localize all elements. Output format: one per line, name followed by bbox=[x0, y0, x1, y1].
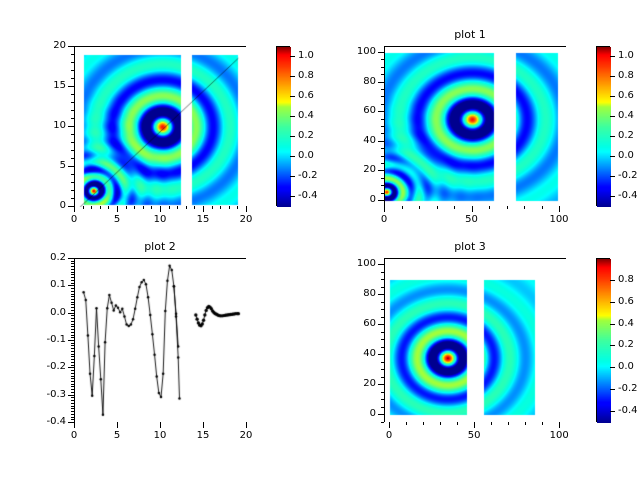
y-minor-tick bbox=[71, 370, 74, 371]
colorbar-tick-label: 0.8 bbox=[298, 70, 314, 81]
colorbar-tick bbox=[290, 56, 295, 57]
y-tick bbox=[68, 126, 74, 127]
y-minor-tick bbox=[71, 324, 74, 325]
y-tick-label: 15 bbox=[26, 80, 66, 91]
y-tick-label: 60 bbox=[336, 105, 376, 116]
colorbar-tick-label: 0.4 bbox=[618, 318, 634, 329]
y-tick bbox=[378, 52, 384, 53]
y-minor-tick bbox=[71, 118, 74, 119]
y-tick bbox=[68, 206, 74, 207]
y-minor-tick bbox=[381, 148, 384, 149]
colorbar-tick bbox=[610, 156, 615, 157]
x-tick bbox=[384, 206, 385, 212]
y-minor-tick bbox=[71, 283, 74, 284]
y-minor-tick bbox=[71, 299, 74, 300]
y-minor-tick bbox=[71, 294, 74, 295]
x-minor-tick bbox=[489, 206, 490, 209]
colorbar-tick bbox=[610, 367, 615, 368]
colorbar-tick-label: 0.6 bbox=[618, 90, 634, 101]
y-tick bbox=[378, 414, 384, 415]
y-minor-tick bbox=[71, 263, 74, 264]
y-tick-label: 0.0 bbox=[26, 307, 66, 318]
x-minor-tick bbox=[151, 206, 152, 209]
y-minor-tick bbox=[381, 119, 384, 120]
plot3-heatmap-canvas bbox=[385, 259, 567, 423]
y-tick-label: 40 bbox=[336, 348, 376, 359]
y-tick-label: -0.2 bbox=[26, 361, 66, 372]
x-tick bbox=[160, 422, 161, 428]
colorbar-tick bbox=[610, 280, 615, 281]
y-tick-label: 20 bbox=[336, 164, 376, 175]
plot2-title: plot 2 bbox=[70, 240, 250, 253]
x-minor-tick bbox=[491, 422, 492, 425]
colorbar-tick bbox=[610, 302, 615, 303]
y-minor-tick bbox=[71, 277, 74, 278]
x-minor-tick bbox=[237, 206, 238, 209]
colorbar-tick-label: -0.4 bbox=[618, 405, 638, 416]
y-minor-tick bbox=[71, 408, 74, 409]
x-tick-label: 5 bbox=[99, 214, 135, 225]
y-tick bbox=[68, 166, 74, 167]
plot2-axes[interactable] bbox=[74, 258, 246, 422]
colorbar-tick-label: -0.2 bbox=[618, 170, 638, 181]
y-tick bbox=[68, 86, 74, 87]
y-minor-tick bbox=[71, 351, 74, 352]
colorbar-tick-label: 1.0 bbox=[298, 50, 314, 61]
x-minor-tick bbox=[406, 422, 407, 425]
colorbar-tick bbox=[290, 196, 295, 197]
y-tick bbox=[378, 82, 384, 83]
x-tick-label: 100 bbox=[541, 430, 577, 441]
panel-plot2: plot 2 051015200.20.10.0-0.1-0.2-0.3-0.4 bbox=[0, 240, 320, 480]
y-minor-tick bbox=[71, 182, 74, 183]
x-minor-tick bbox=[440, 422, 441, 425]
x-tick-label: 50 bbox=[454, 214, 490, 225]
y-minor-tick bbox=[381, 96, 384, 97]
x-minor-tick bbox=[524, 206, 525, 209]
y-minor-tick bbox=[71, 419, 74, 420]
colorbar-tick bbox=[610, 324, 615, 325]
plot1-colorbar-canvas bbox=[597, 47, 611, 207]
plot3-colorbar bbox=[596, 258, 610, 422]
plot0-colorbar-canvas bbox=[277, 47, 291, 207]
y-tick-label: 0 bbox=[26, 200, 66, 211]
x-minor-tick bbox=[507, 206, 508, 209]
y-minor-tick bbox=[381, 422, 384, 423]
y-minor-tick bbox=[71, 291, 74, 292]
colorbar-tick-label: 0.0 bbox=[298, 150, 314, 161]
y-minor-tick bbox=[71, 392, 74, 393]
y-minor-tick bbox=[71, 62, 74, 63]
y-minor-tick bbox=[71, 403, 74, 404]
y-minor-tick bbox=[71, 134, 74, 135]
y-minor-tick bbox=[381, 407, 384, 408]
colorbar-tick bbox=[290, 136, 295, 137]
y-minor-tick bbox=[71, 335, 74, 336]
y-minor-tick bbox=[381, 339, 384, 340]
x-tick bbox=[472, 206, 473, 212]
plot1-colorbar bbox=[596, 46, 610, 206]
y-minor-tick bbox=[71, 198, 74, 199]
x-tick bbox=[74, 206, 75, 212]
x-tick bbox=[160, 206, 161, 212]
colorbar-tick-label: 0.0 bbox=[618, 150, 634, 161]
y-tick bbox=[68, 422, 74, 423]
y-minor-tick bbox=[71, 345, 74, 346]
y-minor-tick bbox=[71, 356, 74, 357]
y-minor-tick bbox=[381, 133, 384, 134]
y-tick-label: 10 bbox=[26, 120, 66, 131]
y-minor-tick bbox=[71, 269, 74, 270]
y-tick bbox=[68, 395, 74, 396]
x-tick-label: 100 bbox=[541, 214, 577, 225]
y-minor-tick bbox=[71, 384, 74, 385]
colorbar-tick bbox=[290, 156, 295, 157]
plot3-title: plot 3 bbox=[395, 240, 545, 253]
y-minor-tick bbox=[381, 89, 384, 90]
colorbar-tick bbox=[290, 96, 295, 97]
x-minor-tick bbox=[126, 206, 127, 209]
y-tick-label: 60 bbox=[336, 318, 376, 329]
x-tick-label: 5 bbox=[99, 430, 135, 441]
x-minor-tick bbox=[194, 206, 195, 209]
y-minor-tick bbox=[381, 104, 384, 105]
y-tick bbox=[378, 354, 384, 355]
colorbar-tick bbox=[290, 176, 295, 177]
colorbar-tick bbox=[610, 136, 615, 137]
plot3-axes[interactable] bbox=[384, 258, 566, 422]
x-minor-tick bbox=[212, 206, 213, 209]
x-minor-tick bbox=[437, 206, 438, 209]
x-minor-tick bbox=[542, 206, 543, 209]
y-minor-tick bbox=[71, 326, 74, 327]
colorbar-tick-label: 0.6 bbox=[298, 90, 314, 101]
y-minor-tick bbox=[71, 343, 74, 344]
x-minor-tick bbox=[542, 422, 543, 425]
x-tick-label: 0 bbox=[371, 430, 407, 441]
x-tick bbox=[117, 422, 118, 428]
y-minor-tick bbox=[381, 302, 384, 303]
y-minor-tick bbox=[71, 381, 74, 382]
panel-plot1: plot 1 050100020406080100 -0.4-0.20.00.2… bbox=[320, 0, 640, 240]
y-minor-tick bbox=[71, 378, 74, 379]
y-minor-tick bbox=[71, 307, 74, 308]
y-tick-label: 5 bbox=[26, 160, 66, 171]
x-tick bbox=[203, 206, 204, 212]
x-minor-tick bbox=[134, 206, 135, 209]
x-tick-label: 0 bbox=[56, 430, 92, 441]
x-minor-tick bbox=[402, 206, 403, 209]
x-tick-label: 20 bbox=[228, 214, 264, 225]
colorbar-tick bbox=[610, 176, 615, 177]
colorbar-tick-label: 0.6 bbox=[618, 296, 634, 307]
y-minor-tick bbox=[381, 193, 384, 194]
y-minor-tick bbox=[71, 272, 74, 273]
y-minor-tick bbox=[381, 163, 384, 164]
colorbar-tick-label: 0.0 bbox=[618, 361, 634, 372]
y-minor-tick bbox=[381, 185, 384, 186]
colorbar-tick bbox=[610, 345, 615, 346]
y-minor-tick bbox=[71, 190, 74, 191]
y-tick bbox=[68, 46, 74, 47]
x-tick-label: 20 bbox=[228, 430, 264, 441]
y-minor-tick bbox=[71, 70, 74, 71]
plot1-heatmap-canvas bbox=[385, 47, 567, 207]
y-minor-tick bbox=[381, 178, 384, 179]
x-minor-tick bbox=[229, 206, 230, 209]
y-minor-tick bbox=[71, 54, 74, 55]
colorbar-tick-label: 0.2 bbox=[618, 339, 634, 350]
y-minor-tick bbox=[381, 317, 384, 318]
y-tick bbox=[68, 285, 74, 286]
x-tick-label: 50 bbox=[456, 430, 492, 441]
y-tick-label: 0.2 bbox=[26, 252, 66, 263]
x-tick bbox=[246, 206, 247, 212]
colorbar-tick-label: 0.8 bbox=[618, 274, 634, 285]
y-minor-tick bbox=[71, 386, 74, 387]
y-tick bbox=[68, 313, 74, 314]
y-minor-tick bbox=[381, 126, 384, 127]
plot1-axes[interactable] bbox=[384, 46, 566, 206]
y-minor-tick bbox=[71, 310, 74, 311]
x-tick bbox=[203, 422, 204, 428]
y-minor-tick bbox=[71, 354, 74, 355]
x-minor-tick bbox=[186, 206, 187, 209]
plot0-heatmap-canvas bbox=[75, 47, 247, 207]
y-minor-tick bbox=[71, 373, 74, 374]
y-minor-tick bbox=[71, 261, 74, 262]
y-minor-tick bbox=[71, 288, 74, 289]
x-minor-tick bbox=[100, 206, 101, 209]
y-minor-tick bbox=[71, 174, 74, 175]
y-minor-tick bbox=[71, 150, 74, 151]
y-tick bbox=[68, 340, 74, 341]
y-minor-tick bbox=[71, 362, 74, 363]
y-minor-tick bbox=[381, 377, 384, 378]
panel-plot0: 0510152005101520 -0.4-0.20.00.20.40.60.8… bbox=[0, 0, 320, 240]
colorbar-tick-label: -0.2 bbox=[298, 170, 318, 181]
y-minor-tick bbox=[71, 417, 74, 418]
y-tick-label: -0.1 bbox=[26, 334, 66, 345]
y-tick-label: -0.4 bbox=[26, 416, 66, 427]
y-minor-tick bbox=[71, 348, 74, 349]
y-tick bbox=[378, 264, 384, 265]
y-minor-tick bbox=[381, 156, 384, 157]
y-tick-label: -0.3 bbox=[26, 389, 66, 400]
x-tick-label: 10 bbox=[142, 214, 178, 225]
x-tick-label: 15 bbox=[185, 430, 221, 441]
colorbar-tick-label: 0.8 bbox=[618, 70, 634, 81]
y-minor-tick bbox=[71, 376, 74, 377]
y-tick bbox=[378, 200, 384, 201]
x-minor-tick bbox=[525, 422, 526, 425]
y-minor-tick bbox=[71, 365, 74, 366]
x-minor-tick bbox=[508, 422, 509, 425]
y-minor-tick bbox=[71, 389, 74, 390]
colorbar-tick bbox=[610, 116, 615, 117]
x-minor-tick bbox=[220, 206, 221, 209]
x-tick-label: 0 bbox=[366, 214, 402, 225]
x-minor-tick bbox=[454, 206, 455, 209]
plot3-colorbar-canvas bbox=[597, 259, 611, 423]
colorbar-tick bbox=[610, 96, 615, 97]
y-minor-tick bbox=[71, 266, 74, 267]
colorbar-tick-label: 0.4 bbox=[298, 110, 314, 121]
x-tick bbox=[246, 422, 247, 428]
y-minor-tick bbox=[71, 142, 74, 143]
y-minor-tick bbox=[71, 411, 74, 412]
colorbar-tick-label: 1.0 bbox=[618, 50, 634, 61]
x-minor-tick bbox=[169, 206, 170, 209]
y-minor-tick bbox=[381, 392, 384, 393]
x-minor-tick bbox=[457, 422, 458, 425]
colorbar-tick-label: 0.2 bbox=[298, 130, 314, 141]
y-minor-tick bbox=[71, 296, 74, 297]
y-tick-label: 0.1 bbox=[26, 279, 66, 290]
colorbar-tick bbox=[610, 389, 615, 390]
y-minor-tick bbox=[71, 337, 74, 338]
x-tick bbox=[474, 422, 475, 428]
y-tick bbox=[378, 384, 384, 385]
y-minor-tick bbox=[381, 272, 384, 273]
colorbar-tick bbox=[610, 196, 615, 197]
x-minor-tick bbox=[83, 206, 84, 209]
colorbar-tick bbox=[610, 56, 615, 57]
y-minor-tick bbox=[71, 359, 74, 360]
y-minor-tick bbox=[71, 110, 74, 111]
colorbar-tick bbox=[610, 76, 615, 77]
plot2-line-canvas bbox=[75, 259, 247, 423]
y-tick bbox=[378, 294, 384, 295]
x-minor-tick bbox=[423, 422, 424, 425]
plot1-title: plot 1 bbox=[395, 28, 545, 41]
y-minor-tick bbox=[71, 397, 74, 398]
y-minor-tick bbox=[71, 318, 74, 319]
y-minor-tick bbox=[71, 304, 74, 305]
colorbar-tick bbox=[290, 116, 295, 117]
y-minor-tick bbox=[71, 321, 74, 322]
y-minor-tick bbox=[381, 59, 384, 60]
colorbar-tick bbox=[290, 76, 295, 77]
y-tick-label: 80 bbox=[336, 76, 376, 87]
y-tick bbox=[378, 324, 384, 325]
y-tick-label: 80 bbox=[336, 288, 376, 299]
y-tick-label: 100 bbox=[336, 258, 376, 269]
x-tick bbox=[559, 422, 560, 428]
y-minor-tick bbox=[381, 309, 384, 310]
y-minor-tick bbox=[71, 406, 74, 407]
colorbar-tick-label: -0.4 bbox=[298, 190, 318, 201]
plot0-axes[interactable] bbox=[74, 46, 246, 206]
y-minor-tick bbox=[71, 280, 74, 281]
colorbar-tick bbox=[610, 411, 615, 412]
x-minor-tick bbox=[108, 206, 109, 209]
y-minor-tick bbox=[71, 94, 74, 95]
y-minor-tick bbox=[71, 78, 74, 79]
y-tick bbox=[378, 141, 384, 142]
y-tick-label: 20 bbox=[26, 40, 66, 51]
x-tick-label: 0 bbox=[56, 214, 92, 225]
x-minor-tick bbox=[177, 206, 178, 209]
x-tick bbox=[559, 206, 560, 212]
y-minor-tick bbox=[71, 414, 74, 415]
x-minor-tick bbox=[419, 206, 420, 209]
y-minor-tick bbox=[381, 332, 384, 333]
x-minor-tick bbox=[91, 206, 92, 209]
x-tick bbox=[117, 206, 118, 212]
y-minor-tick bbox=[71, 332, 74, 333]
y-minor-tick bbox=[381, 74, 384, 75]
y-tick-label: 20 bbox=[336, 378, 376, 389]
colorbar-tick-label: 0.2 bbox=[618, 130, 634, 141]
y-tick bbox=[68, 258, 74, 259]
colorbar-tick-label: -0.4 bbox=[618, 190, 638, 201]
y-minor-tick bbox=[71, 302, 74, 303]
panel-plot3: plot 3 050100020406080100 -0.4-0.20.00.2… bbox=[320, 240, 640, 480]
x-tick bbox=[389, 422, 390, 428]
x-tick bbox=[74, 422, 75, 428]
y-tick-label: 0 bbox=[336, 408, 376, 419]
y-tick bbox=[68, 367, 74, 368]
x-tick-label: 15 bbox=[185, 214, 221, 225]
y-minor-tick bbox=[381, 287, 384, 288]
colorbar-tick-label: -0.2 bbox=[618, 383, 638, 394]
y-minor-tick bbox=[381, 279, 384, 280]
y-minor-tick bbox=[381, 347, 384, 348]
y-minor-tick bbox=[71, 400, 74, 401]
y-minor-tick bbox=[381, 362, 384, 363]
x-minor-tick bbox=[143, 206, 144, 209]
y-minor-tick bbox=[381, 399, 384, 400]
y-tick bbox=[378, 111, 384, 112]
y-minor-tick bbox=[381, 369, 384, 370]
y-minor-tick bbox=[71, 274, 74, 275]
y-minor-tick bbox=[71, 315, 74, 316]
x-tick-label: 10 bbox=[142, 430, 178, 441]
y-tick bbox=[378, 170, 384, 171]
y-tick-label: 100 bbox=[336, 46, 376, 57]
colorbar-tick-label: 0.4 bbox=[618, 110, 634, 121]
y-minor-tick bbox=[71, 329, 74, 330]
y-minor-tick bbox=[71, 158, 74, 159]
y-minor-tick bbox=[381, 67, 384, 68]
y-minor-tick bbox=[71, 102, 74, 103]
y-tick-label: 0 bbox=[336, 194, 376, 205]
y-tick-label: 40 bbox=[336, 135, 376, 146]
plot0-colorbar bbox=[276, 46, 290, 206]
